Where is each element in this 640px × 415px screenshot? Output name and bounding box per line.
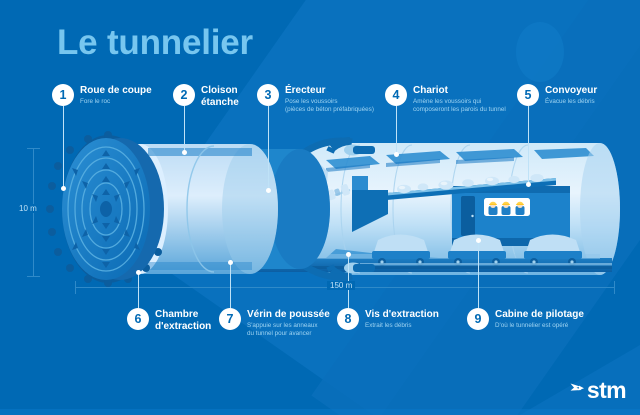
callout-9-cabine-de-pilotage[interactable]: 9 Cabine de pilotage D'où le tunnelier e… xyxy=(467,308,584,330)
callout-title-1: Roue de coupe xyxy=(80,85,152,97)
infographic-tunnel-boring-machine: 10 m 150 m Le tunnelier 1 Roue de coupe … xyxy=(0,0,640,415)
leader-dot-7 xyxy=(228,260,233,265)
callout-subtitle-9: D'où le tunnelier est opéré xyxy=(495,322,584,330)
callout-6-chambre-extraction[interactable]: 6 Chambre d'extraction xyxy=(127,308,211,334)
horizontal-measure-cap-right xyxy=(614,281,615,294)
callout-badge-4: 4 xyxy=(385,84,407,106)
callout-title-4: Chariot xyxy=(413,85,506,97)
callout-badge-1: 1 xyxy=(52,84,74,106)
leader-dot-6 xyxy=(136,270,141,275)
horizontal-measure-label: 150 m xyxy=(327,281,355,290)
callout-title-9: Cabine de pilotage xyxy=(495,309,584,321)
leader-dot-3 xyxy=(266,188,271,193)
callout-subtitle-4: Amène les voussoirs qui composeront les … xyxy=(413,98,506,114)
callout-title-3: Érecteur xyxy=(285,85,374,97)
leader-line-3 xyxy=(268,106,269,190)
stm-logo-text: stm xyxy=(587,380,626,401)
leader-line-2 xyxy=(184,106,185,152)
callout-badge-3: 3 xyxy=(257,84,279,106)
page-title: Le tunnelier xyxy=(57,23,253,63)
leader-line-6 xyxy=(138,272,139,308)
callout-subtitle-5: Évacue les débris xyxy=(545,98,597,106)
leader-line-1 xyxy=(63,106,64,188)
horizontal-measure-cap-left xyxy=(75,281,76,294)
stm-logo[interactable]: stm xyxy=(569,380,626,401)
callout-title-6: Chambre d'extraction xyxy=(155,309,211,332)
vertical-measure-cap-bottom xyxy=(27,276,40,277)
callout-4-chariot[interactable]: 4 Chariot Amène les voussoirs qui compos… xyxy=(385,84,506,114)
worker-figures xyxy=(489,202,525,215)
callout-subtitle-7: S'appuie sur les anneaux du tunnel pour … xyxy=(247,322,330,338)
callout-badge-2: 2 xyxy=(173,84,195,106)
arrow-right-icon xyxy=(569,381,586,398)
vertical-measure-label: 10 m xyxy=(16,204,40,213)
leader-dot-8 xyxy=(346,252,351,257)
callout-1-roue-de-coupe[interactable]: 1 Roue de coupe Fore le roc xyxy=(52,84,152,106)
callout-subtitle-3: Pose les voussoirs (pièces de béton préf… xyxy=(285,98,374,114)
leader-dot-9 xyxy=(476,238,481,243)
callout-badge-5: 5 xyxy=(517,84,539,106)
leader-dot-4 xyxy=(394,152,399,157)
callout-2-cloison-etanche[interactable]: 2 Cloison étanche xyxy=(173,84,239,110)
callout-title-8: Vis d'extraction xyxy=(365,309,439,321)
callout-title-5: Convoyeur xyxy=(545,85,597,97)
leader-dot-2 xyxy=(182,150,187,155)
callout-badge-6: 6 xyxy=(127,308,149,330)
callout-title-7: Vérin de poussée xyxy=(247,309,330,321)
leader-line-7 xyxy=(230,262,231,308)
callout-badge-9: 9 xyxy=(467,308,489,330)
callout-5-convoyeur[interactable]: 5 Convoyeur Évacue les débris xyxy=(517,84,597,106)
callout-title-2: Cloison étanche xyxy=(201,85,239,108)
callout-subtitle-1: Fore le roc xyxy=(80,98,152,106)
leader-dot-1 xyxy=(61,186,66,191)
callout-8-vis-extraction[interactable]: 8 Vis d'extraction Extrait les débris xyxy=(337,308,439,330)
callout-3-erecteur[interactable]: 3 Érecteur Pose les voussoirs (pièces de… xyxy=(257,84,374,114)
callout-badge-7: 7 xyxy=(219,308,241,330)
callout-7-verin-de-poussee[interactable]: 7 Vérin de poussée S'appuie sur les anne… xyxy=(219,308,330,338)
leader-dot-5 xyxy=(526,182,531,187)
leader-line-9 xyxy=(478,240,479,308)
callout-badge-8: 8 xyxy=(337,308,359,330)
leader-line-5 xyxy=(528,106,529,184)
callout-subtitle-8: Extrait les débris xyxy=(365,322,439,330)
leader-line-4 xyxy=(396,106,397,154)
vertical-measure-cap-top xyxy=(27,148,40,149)
